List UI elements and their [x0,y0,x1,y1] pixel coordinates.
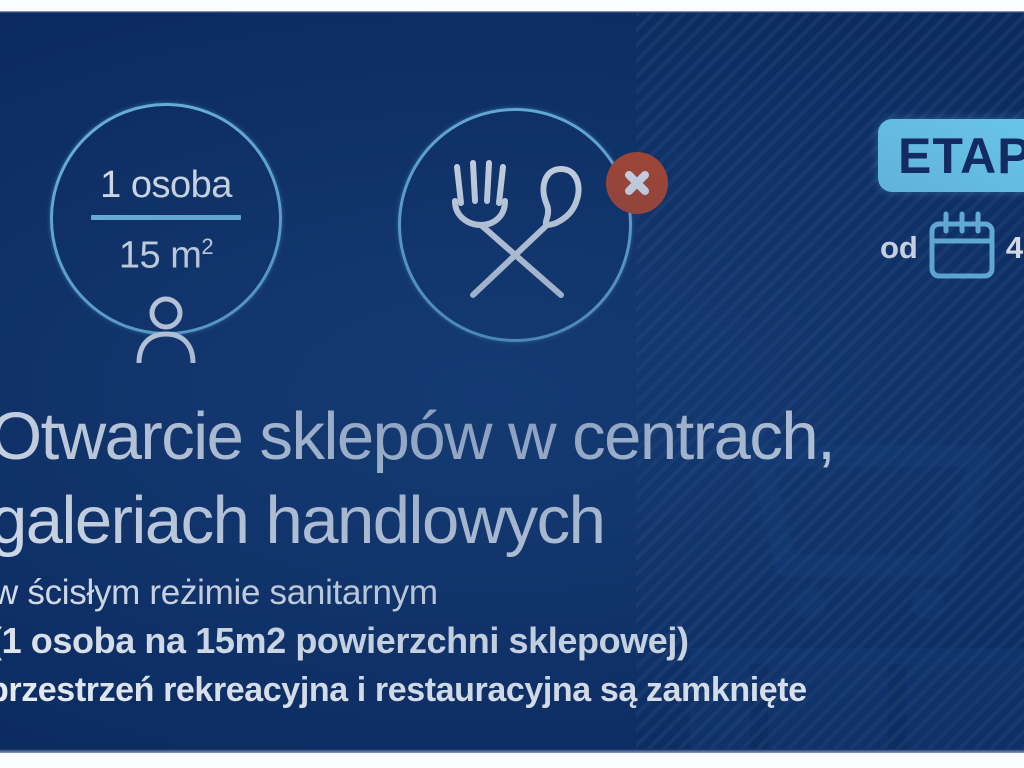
body-line-2: (1 osoba na 15m2 powierzchni sklepowej) [0,619,1024,663]
body-line-1: w ścisłym reżimie sanitarnym [0,572,1024,614]
headline-line-1: Otwarcie sklepów w centrach, [0,399,834,474]
date-prefix-label: od [880,231,918,265]
stage-date-row: od 4 ma [880,208,1024,288]
top-edge-divider [0,11,1024,13]
page-title: Otwarcie sklepów w centrach, galeriach h… [0,395,1024,563]
density-denominator: 15 m2 [50,224,282,279]
body-line-3: przestrzeń rekreacyjna i restauracyjna s… [0,669,1024,711]
poster-canvas: 1 osoba 15 m2 [0,12,1024,752]
bottom-white-band [0,753,1024,768]
fork-and-spoon-icon [443,155,593,310]
infographic-poster: 1 osoba 15 m2 [0,0,1024,768]
date-value-label: 4 ma [1006,231,1024,265]
fraction-bar [91,215,241,220]
calendar-icon [924,210,1000,287]
x-close-badge-icon [606,152,668,214]
top-white-band [0,0,1024,11]
person-icon [135,295,197,368]
headline-line-2: galeriach handlowych [0,479,1024,563]
density-numerator: 1 osoba [50,162,282,208]
stage-badge-label: ETAP [898,130,1024,182]
density-fraction: 1 osoba 15 m2 [50,162,282,279]
stage-badge: ETAP [878,119,1024,192]
